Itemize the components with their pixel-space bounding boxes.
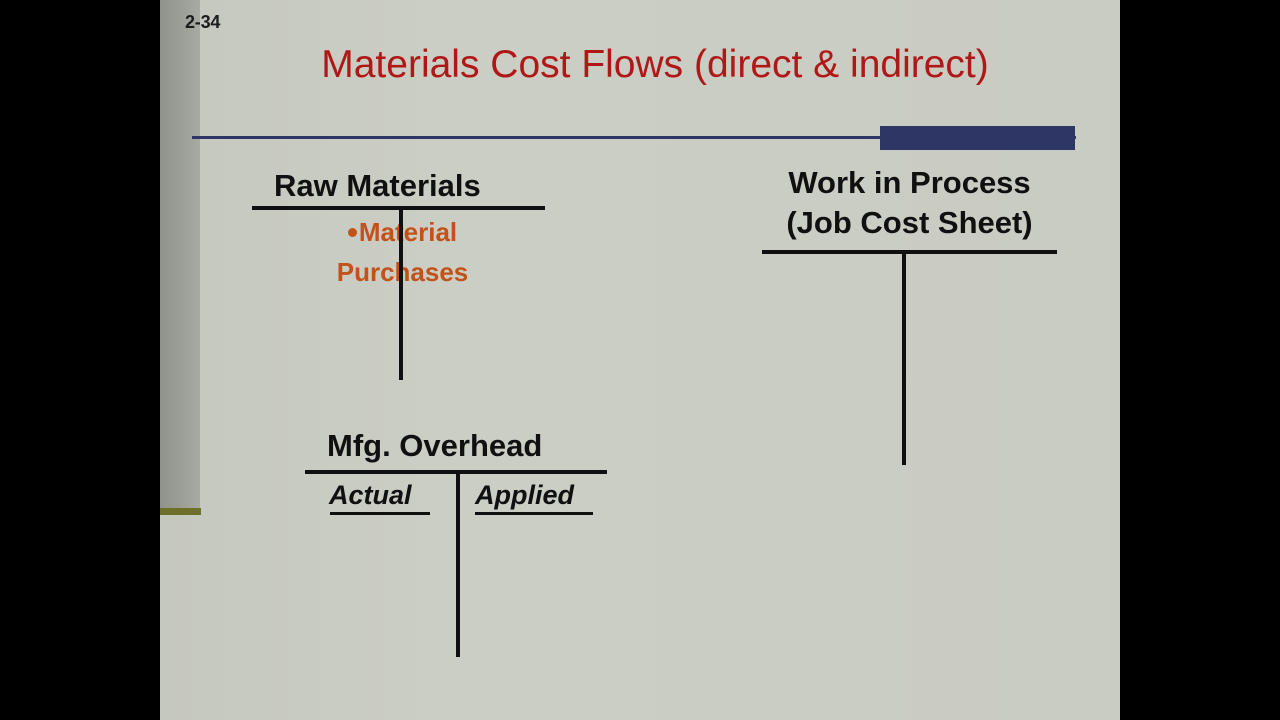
mfg-overhead-credit-column-label: Applied bbox=[475, 480, 574, 511]
raw-materials-center-rule bbox=[399, 208, 403, 380]
raw-materials-heading: Raw Materials bbox=[274, 166, 481, 206]
mfg-overhead-center-rule bbox=[456, 473, 460, 657]
left-band-accent-footer bbox=[160, 508, 201, 515]
mfg-overhead-debit-column-label: Actual bbox=[329, 480, 412, 511]
left-decorative-band bbox=[160, 0, 200, 512]
mfg-overhead-debit-column-underline bbox=[330, 512, 430, 515]
slide-content-panel: 2-34 Materials Cost Flows (direct & indi… bbox=[160, 0, 1120, 720]
work-in-process-heading: Work in Process (Job Cost Sheet) bbox=[762, 163, 1057, 243]
bullet-icon bbox=[348, 228, 357, 237]
work-in-process-heading-line1: Work in Process bbox=[762, 163, 1057, 203]
slide-number: 2-34 bbox=[185, 12, 220, 33]
mfg-overhead-credit-column-underline bbox=[475, 512, 593, 515]
slide-root: 2-34 Materials Cost Flows (direct & indi… bbox=[0, 0, 1280, 720]
mfg-overhead-heading: Mfg. Overhead bbox=[327, 426, 542, 466]
work-in-process-center-rule bbox=[902, 253, 906, 465]
page-title: Materials Cost Flows (direct & indirect) bbox=[210, 43, 1100, 87]
work-in-process-heading-line2: (Job Cost Sheet) bbox=[762, 203, 1057, 243]
work-in-process-top-rule bbox=[762, 250, 1057, 254]
title-accent-bar bbox=[880, 126, 1075, 150]
